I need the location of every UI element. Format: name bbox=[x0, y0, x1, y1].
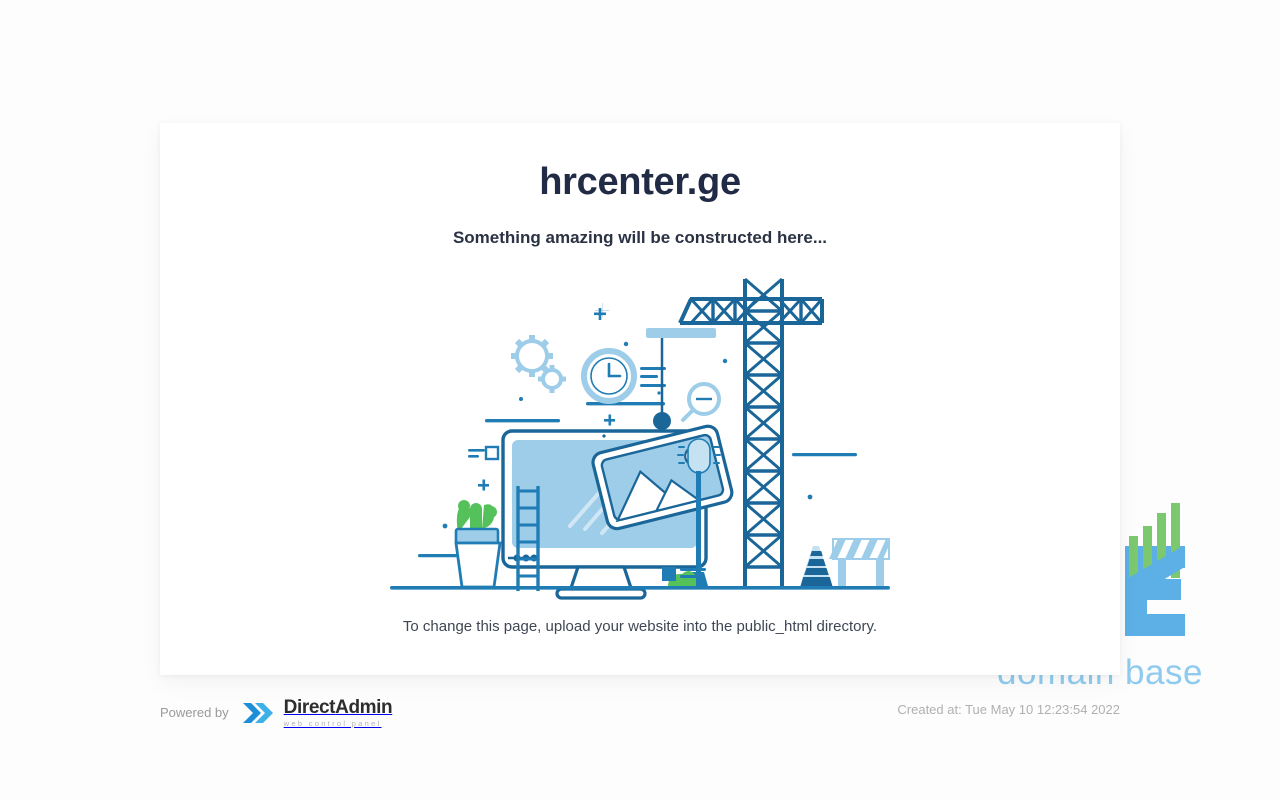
gears-icon bbox=[511, 335, 566, 393]
created-at-label: Created at: Tue May 10 12:23:54 2022 bbox=[897, 702, 1120, 717]
ground-line bbox=[390, 586, 890, 590]
directadmin-chevrons-icon bbox=[241, 699, 277, 727]
powered-by-block: Powered by DirectAdmin web control panel bbox=[160, 698, 392, 728]
content-card: hrcenter.ge Something amazing will be co… bbox=[160, 123, 1120, 675]
ge-letter-e bbox=[1125, 546, 1185, 636]
ge-wedge bbox=[1125, 546, 1183, 586]
pot-rim bbox=[456, 529, 498, 543]
crane-hook-ball bbox=[653, 412, 671, 430]
ge-growth-bars-icon bbox=[1129, 503, 1180, 578]
traffic-cone bbox=[800, 546, 832, 586]
page-title: hrcenter.ge bbox=[160, 123, 1120, 205]
powered-by-label: Powered by bbox=[160, 705, 229, 720]
directadmin-name-part2: Admin bbox=[335, 697, 392, 718]
clock-icon bbox=[584, 351, 634, 401]
page-note: To change this page, upload your website… bbox=[160, 618, 1120, 635]
under-construction-illustration bbox=[390, 271, 890, 601]
small-window-glyph bbox=[468, 447, 498, 459]
monitor-base bbox=[557, 589, 645, 598]
directadmin-logo-link[interactable]: DirectAdmin web control panel bbox=[241, 698, 393, 728]
page-subtitle: Something amazing will be constructed he… bbox=[160, 205, 1120, 248]
crane-counterweight bbox=[646, 328, 716, 338]
magnifier-icon bbox=[683, 384, 719, 420]
directadmin-tagline: web control panel bbox=[284, 720, 393, 728]
directadmin-wordmark: DirectAdmin web control panel bbox=[284, 698, 393, 728]
illustration-svg bbox=[390, 271, 890, 601]
directadmin-name: DirectAdmin bbox=[284, 698, 393, 717]
page-footer: Powered by DirectAdmin web control panel… bbox=[160, 688, 1120, 732]
pot-body bbox=[456, 543, 500, 587]
crane-mast bbox=[745, 279, 782, 586]
lamp-head bbox=[688, 439, 710, 473]
cactus-plant bbox=[456, 500, 500, 587]
directadmin-name-part1: Direct bbox=[284, 697, 335, 718]
road-barrier bbox=[829, 539, 890, 587]
